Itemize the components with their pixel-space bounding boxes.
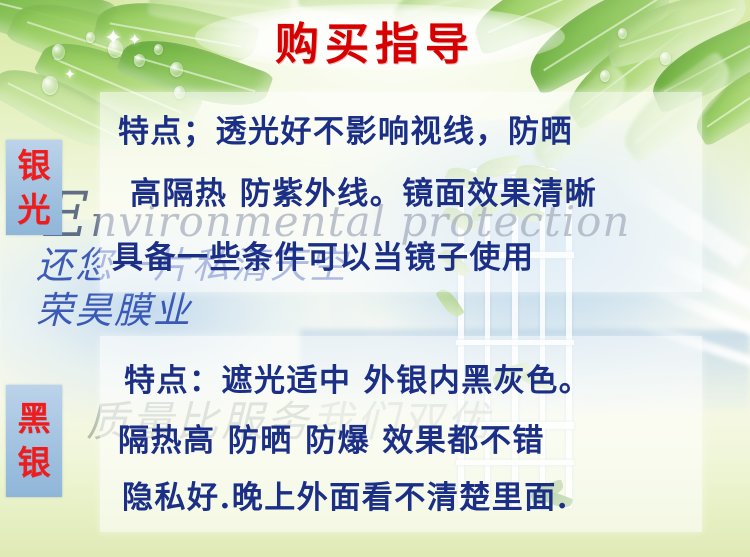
product-tag-black-silver: 黑 银 <box>6 385 62 497</box>
product-tag-silver: 银 光 <box>6 140 62 235</box>
product-tag-char: 银 <box>18 144 51 188</box>
product-tag-char: 银 <box>18 441 51 485</box>
product-tag-char: 黑 <box>18 397 51 441</box>
feature-line: 隐私好.晚上外面看不清楚里面. <box>122 472 569 517</box>
feature-line: 隔热高 防晒 防爆 效果都不错 <box>118 415 545 460</box>
feature-line: 高隔热 防紫外线。镜面效果清晰 <box>130 168 597 213</box>
water-drop-icon <box>42 76 58 95</box>
feature-line: 特点；透光好不影响视线，防晒 <box>118 106 573 151</box>
product-tag-char: 光 <box>18 188 51 232</box>
feature-line: 特点：遮光适中 外银内黑灰色。 <box>124 355 591 400</box>
page-title: 购买指导 <box>0 8 750 72</box>
promo-poster: ✦ ✦ ✦ 购买指导 Environmental protection 还您一片… <box>0 0 750 557</box>
feature-line: 具备一些条件可以当镜子使用 <box>112 232 535 277</box>
